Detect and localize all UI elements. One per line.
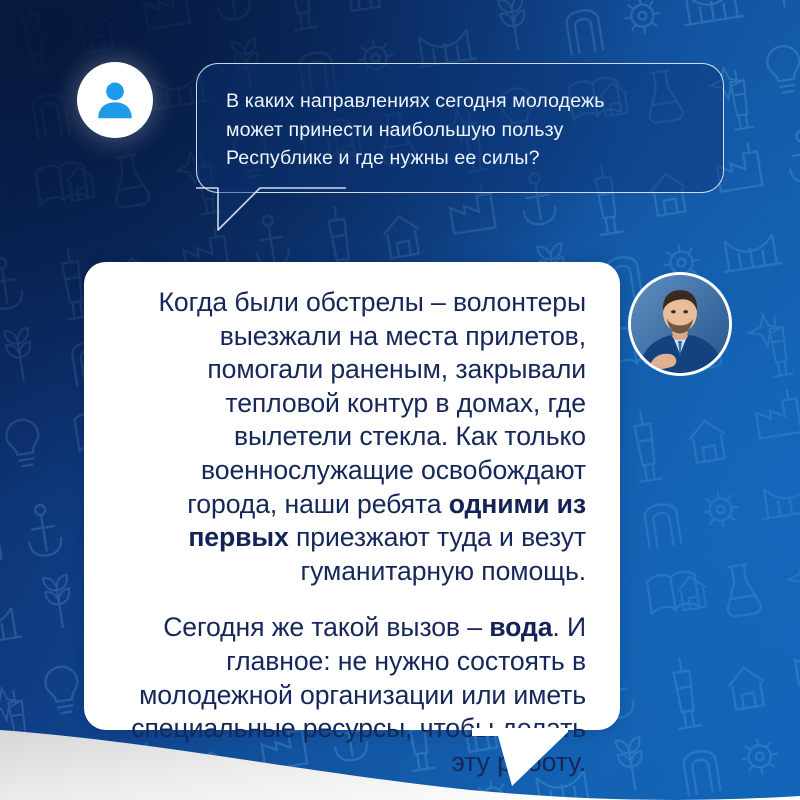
question-text: В каких направлениях сегодня молодежь мо… [226, 87, 697, 173]
answer-paragraph: Когда были обстрелы – волонтеры выезжали… [118, 286, 586, 588]
answer-bubble: Когда были обстрелы – волонтеры выезжали… [84, 262, 620, 730]
answer-avatar [628, 272, 732, 376]
speaker-portrait-photo [631, 275, 729, 373]
question-avatar [77, 62, 153, 138]
card-canvas: В каких направлениях сегодня молодежь мо… [0, 0, 800, 800]
answer-run: приезжают туда и везут гуманитарную помо… [289, 522, 586, 586]
person-silhouette-icon [92, 77, 138, 123]
answer-paragraph: Сегодня же такой вызов – вода. И главное… [118, 611, 586, 779]
answer-run: Когда были обстрелы – волонтеры выезжали… [159, 287, 587, 519]
question-bubble: В каких направлениях сегодня молодежь мо… [196, 63, 724, 193]
answer-run: Сегодня же такой вызов – [163, 612, 489, 642]
question-bubble-tail [196, 186, 346, 250]
answer-emphasis: вода [489, 612, 552, 642]
answer-text-body: Когда были обстрелы – волонтеры выезжали… [118, 286, 586, 779]
